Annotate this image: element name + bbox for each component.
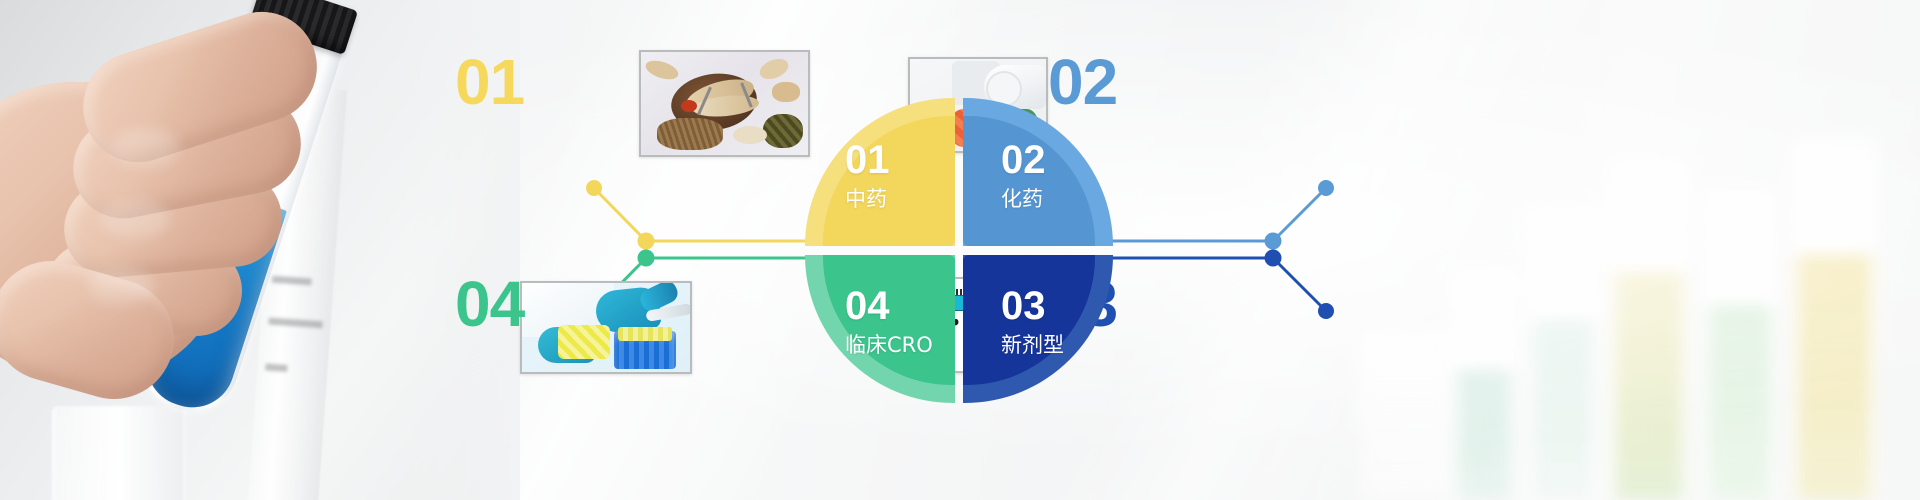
segment-number-01: 01	[845, 140, 890, 180]
thumb-image-herbal	[641, 52, 808, 155]
segment-title-02: 化药	[1001, 187, 1046, 211]
segment-title-01: 中药	[845, 187, 890, 211]
segment-label-01: 01 中药	[845, 140, 890, 211]
thumbnail-lab-pipetting[interactable]	[520, 281, 692, 374]
segment-title-04: 临床CRO	[845, 333, 933, 357]
callout-number-01: 01	[455, 50, 524, 114]
segment-number-03: 03	[1001, 286, 1064, 326]
segment-number-02: 02	[1001, 140, 1046, 180]
segment-number-04: 04	[845, 286, 933, 326]
segment-label-02: 02 化药	[1001, 140, 1046, 211]
thumb-image-lab	[522, 283, 690, 372]
segment-label-03: 03 新剂型	[1001, 286, 1064, 357]
segmented-wheel: 01 中药 02 化药 04 临床CRO 03 新剂型	[805, 98, 1113, 403]
callout-number-04: 04	[455, 272, 524, 336]
thumbnail-herbal-medicine[interactable]	[639, 50, 810, 157]
segment-label-04: 04 临床CRO	[845, 286, 933, 357]
banner-stage: 01 02 03 04 01 中药 02 化药 04 临床	[0, 0, 1920, 500]
segment-title-03: 新剂型	[1001, 333, 1064, 357]
